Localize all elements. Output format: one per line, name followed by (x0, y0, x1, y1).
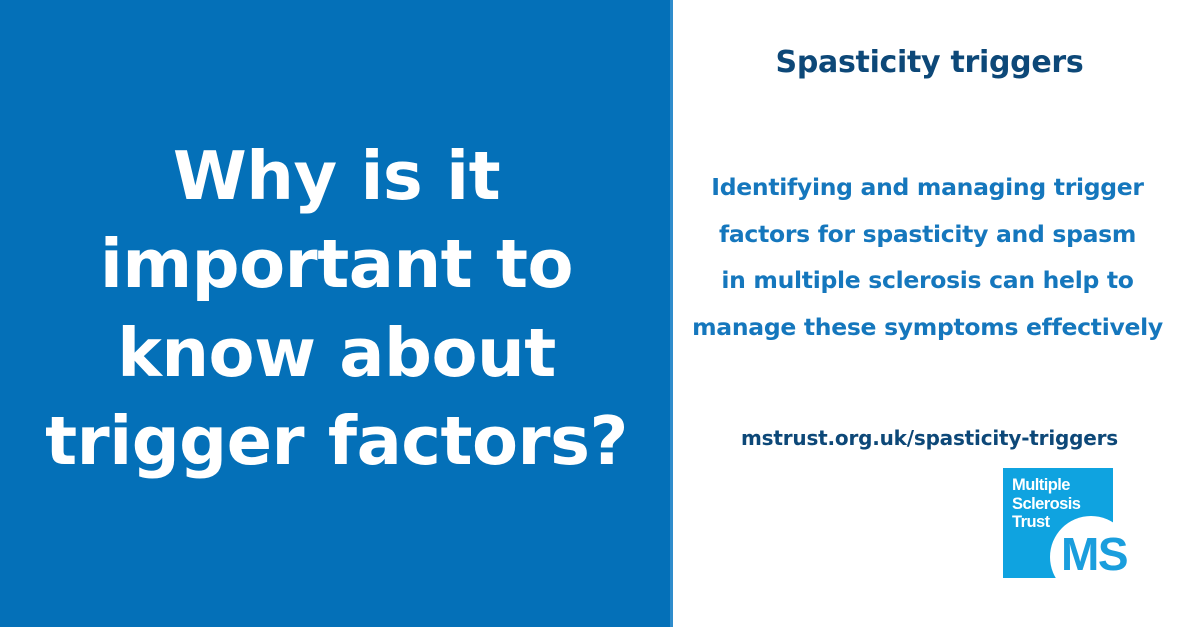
headline-text: Why is it important to know about trigge… (1, 132, 673, 496)
info-panel: Spasticity triggers Identifying and mana… (673, 0, 1200, 627)
logo-wordmark-line: Multiple (1012, 476, 1080, 495)
topic-kicker: Spasticity triggers (681, 46, 1178, 79)
description-line: factors for spasticity and spasm (675, 211, 1180, 258)
description-line: in multiple sclerosis can help to (675, 257, 1180, 304)
logo-wordmark: Multiple Sclerosis Trust (1012, 476, 1080, 532)
ms-trust-logo[interactable]: Multiple Sclerosis Trust MS (1003, 468, 1113, 578)
description-text: Identifying and managing trigger factors… (675, 164, 1180, 350)
logo-wordmark-line: Sclerosis (1012, 495, 1080, 514)
description-line: manage these symptoms effectively (675, 304, 1180, 351)
description-line: Identifying and managing trigger (675, 164, 1180, 211)
website-url[interactable]: mstrust.org.uk/spasticity-triggers (681, 426, 1178, 450)
promo-card: Why is it important to know about trigge… (0, 0, 1200, 627)
logo-monogram: MS (1061, 531, 1127, 577)
headline-panel: Why is it important to know about trigge… (0, 0, 673, 627)
